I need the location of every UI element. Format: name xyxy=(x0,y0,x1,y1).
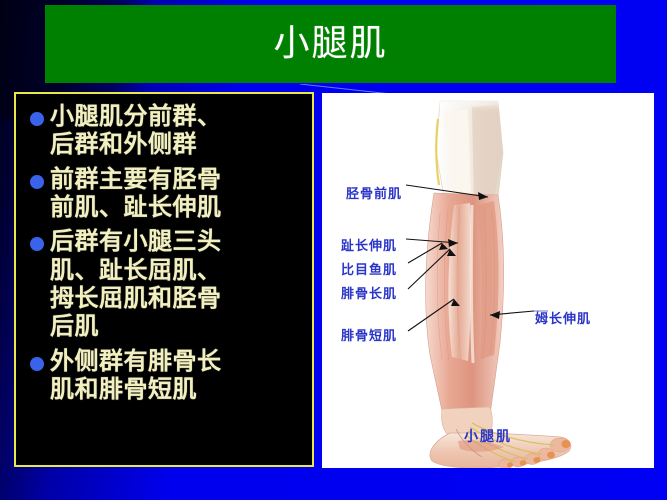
title-banner: 小腿肌 xyxy=(45,5,616,83)
list-item: 前群主要有胫骨 前肌、趾长伸肌 xyxy=(22,165,306,222)
bullet-content-box: 小腿肌分前群、 后群和外侧群 前群主要有胫骨 前肌、趾长伸肌 后群有小腿三头 肌… xyxy=(14,92,314,467)
list-item: 外侧群有腓骨长 肌和腓骨短肌 xyxy=(22,347,306,404)
bullet-dot-icon xyxy=(30,237,44,251)
anatomy-label-tibialis-anterior: 胫骨前肌 xyxy=(346,183,402,202)
bullet-dot-icon xyxy=(30,112,44,126)
page-title: 小腿肌 xyxy=(273,26,387,62)
bullet-text: 前群主要有胫骨 前肌、趾长伸肌 xyxy=(50,165,222,222)
bullet-text: 小腿肌分前群、 后群和外侧群 xyxy=(50,102,222,159)
leg-anatomy-illustration xyxy=(322,93,654,468)
list-item: 小腿肌分前群、 后群和外侧群 xyxy=(22,102,306,159)
anatomy-label-peroneus-longus: 腓骨长肌 xyxy=(341,283,397,302)
bullet-dot-icon xyxy=(30,357,44,371)
anatomy-label-extensor-digitorum-longus: 趾长伸肌 xyxy=(341,235,397,254)
figure-caption: 小腿肌 xyxy=(322,426,654,446)
anatomy-label-extensor-hallucis-longus: 姆长伸肌 xyxy=(535,308,591,327)
anatomy-figure-panel: 胫骨前肌 趾长伸肌 比目鱼肌 腓骨长肌 腓骨短肌 姆长伸肌 小腿肌 xyxy=(322,93,654,468)
anatomy-label-peroneus-brevis: 腓骨短肌 xyxy=(341,325,397,344)
slide-canvas: 小腿肌 小腿肌分前群、 后群和外侧群 前群主要有胫骨 前肌、趾长伸肌 后群有小腿… xyxy=(0,0,667,500)
bullet-text: 后群有小腿三头 肌、趾长屈肌、 拇长屈肌和胫骨 后肌 xyxy=(50,227,222,340)
bullet-text: 外侧群有腓骨长 肌和腓骨短肌 xyxy=(50,347,222,404)
anatomy-label-soleus: 比目鱼肌 xyxy=(341,259,397,278)
list-item: 后群有小腿三头 肌、趾长屈肌、 拇长屈肌和胫骨 后肌 xyxy=(22,227,306,340)
bullet-list: 小腿肌分前群、 后群和外侧群 前群主要有胫骨 前肌、趾长伸肌 后群有小腿三头 肌… xyxy=(22,102,306,403)
bullet-dot-icon xyxy=(30,175,44,189)
